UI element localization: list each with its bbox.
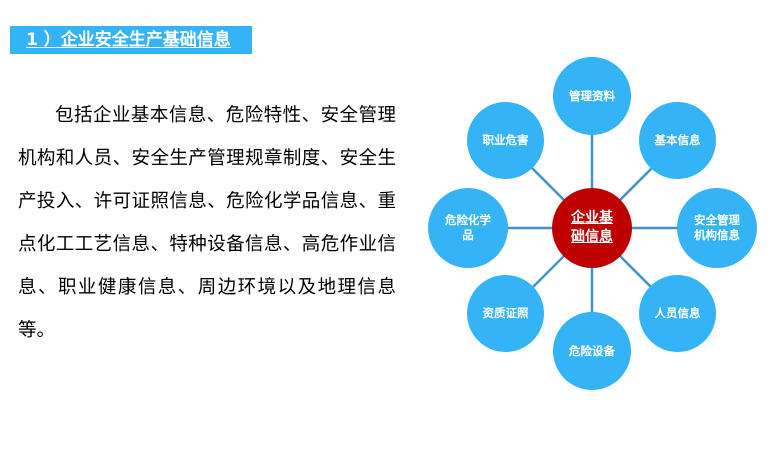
diagram-node-label-line2: 品: [441, 228, 495, 243]
diagram-node-label: 职业危害: [479, 133, 533, 148]
diagram-node-zhiye-weihai[interactable]: 职业危害: [467, 102, 544, 179]
diagram-node-label: 危险化学 品: [441, 213, 495, 243]
diagram-node-label: 安全管理 机构信息: [690, 213, 744, 243]
diagram-node-label-line1: 安全管理: [690, 213, 744, 228]
diagram-center-label: 企业基 础信息: [567, 209, 617, 247]
diagram-node-label: 危险设备: [565, 344, 619, 359]
diagram-center-label-line2: 础信息: [567, 228, 617, 247]
diagram-node-label: 基本信息: [651, 133, 705, 148]
diagram-node-weixian-shebei[interactable]: 危险设备: [553, 312, 631, 390]
diagram-node-jiben-xinxi[interactable]: 基本信息: [639, 102, 716, 179]
diagram-node-weixian-huaxuepin[interactable]: 危险化学 品: [428, 188, 508, 268]
diagram-node-label-line1: 危险化学: [441, 213, 495, 228]
page-title: 1 ）企业安全生产基础信息: [10, 32, 231, 49]
diagram-node-label: 资质证照: [479, 306, 533, 321]
diagram-node-zizhi-zhengzhao[interactable]: 资质证照: [467, 275, 544, 352]
diagram-node-renyuan-xinxi[interactable]: 人员信息: [639, 275, 716, 352]
diagram-node-label-line2: 机构信息: [690, 228, 744, 243]
diagram-node-label: 人员信息: [651, 306, 705, 321]
diagram-node-anquan-guanli[interactable]: 安全管理 机构信息: [677, 188, 757, 268]
body-paragraph: 包括企业基本信息、危险特性、安全管理机构和人员、安全生产管理规章制度、安全生产投…: [18, 94, 396, 352]
diagram-center-label-line1: 企业基: [567, 209, 617, 228]
diagram-node-guanli-ziliao[interactable]: 管理资料: [553, 57, 631, 135]
section-heading-bar: 1 ）企业安全生产基础信息: [10, 26, 252, 54]
enterprise-basic-info-diagram: 管理资料 基本信息 安全管理 机构信息 人员信息 危险设备 资质证照: [405, 50, 771, 410]
diagram-center-node[interactable]: 企业基 础信息: [552, 188, 632, 268]
diagram-node-label: 管理资料: [565, 89, 619, 104]
slide-canvas: 1 ）企业安全生产基础信息 包括企业基本信息、危险特性、安全管理机构和人员、安全…: [0, 0, 778, 476]
